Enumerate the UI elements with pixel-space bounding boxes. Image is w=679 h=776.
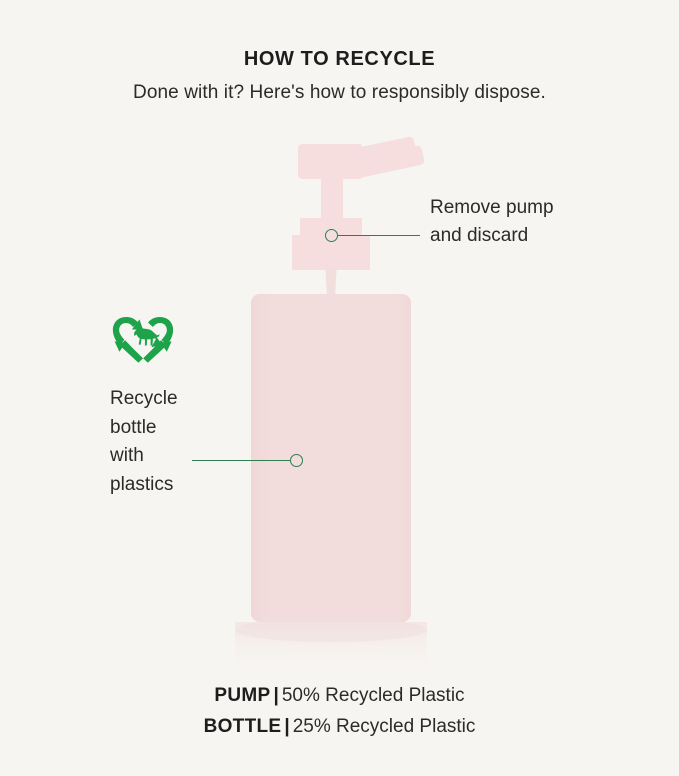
- spec-value-pump: 50% Recycled Plastic: [282, 685, 465, 706]
- circle-marker-icon: [325, 229, 338, 242]
- pump-bottle-illustration: [0, 0, 679, 700]
- spec-separator: |: [271, 685, 282, 706]
- recycle-heart-dog-icon: [110, 310, 176, 372]
- bottle-body-shading: [251, 294, 411, 622]
- spec-label-pump: PUMP: [214, 685, 270, 706]
- spec-row-pump: PUMP|50% Recycled Plastic: [0, 680, 679, 711]
- spec-label-bottle: BOTTLE: [204, 716, 282, 737]
- pump-head: [298, 137, 417, 179]
- pump-stem: [321, 178, 343, 222]
- pump-spout: [360, 146, 424, 178]
- material-specs: PUMP|50% Recycled Plastic BOTTLE|25% Rec…: [0, 680, 679, 742]
- pump-leader-line: [338, 235, 420, 236]
- spec-row-bottle: BOTTLE|25% Recycled Plastic: [0, 711, 679, 742]
- pump-dip-tube: [325, 262, 337, 296]
- callout-remove-pump: Remove pump and discard: [430, 194, 554, 250]
- bottle-body: [251, 294, 411, 622]
- page-title: HOW TO RECYCLE: [0, 48, 679, 71]
- bottle-reflection: [235, 622, 427, 680]
- page-subtitle: Done with it? Here's how to responsibly …: [0, 82, 679, 104]
- spec-separator: |: [281, 716, 292, 737]
- bottle-leader-line: [192, 460, 290, 461]
- pump-head-cap: [298, 144, 364, 179]
- circle-marker-icon: [290, 454, 303, 467]
- bottle-shadow: [235, 618, 427, 642]
- recycle-infographic: HOW TO RECYCLE Done with it? Here's how …: [0, 0, 679, 776]
- spec-value-bottle: 25% Recycled Plastic: [293, 716, 476, 737]
- callout-recycle-bottle: Recycle bottle with plastics: [110, 385, 178, 499]
